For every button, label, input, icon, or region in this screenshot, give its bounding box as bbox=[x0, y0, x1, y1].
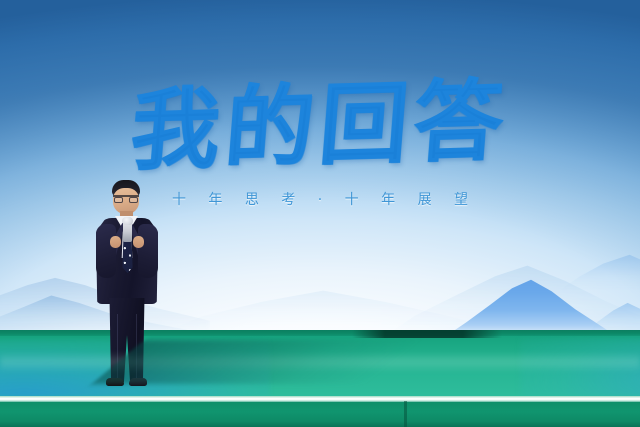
stage-scene: 我的回答 十 年 思 考 · 十 年 展 望 bbox=[0, 0, 640, 427]
main-title: 我的回答 bbox=[0, 69, 640, 182]
stage-edge-light-strip bbox=[0, 396, 640, 402]
stage-front-panel bbox=[0, 401, 640, 427]
speaker-cast-shadow bbox=[92, 340, 420, 384]
glasses-icon bbox=[113, 195, 139, 201]
speaker-hand-left bbox=[110, 236, 121, 248]
speaker-hand-right bbox=[133, 236, 144, 248]
stage-lip-shadow bbox=[352, 330, 502, 338]
microphone-head bbox=[122, 217, 133, 225]
stage-front-panel-seam bbox=[404, 401, 407, 427]
speaker-arm-right bbox=[138, 224, 158, 278]
speaker-arm-left bbox=[96, 224, 116, 278]
